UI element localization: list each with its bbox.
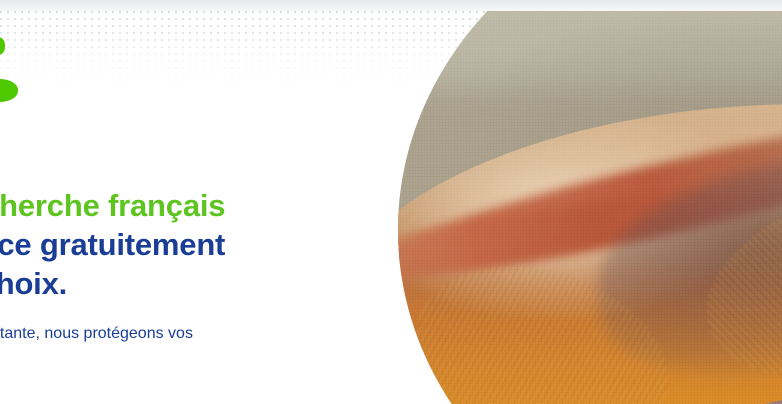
- page-title: ur de recherche français qui finance gra…: [0, 186, 430, 303]
- photo-background: [398, 0, 782, 404]
- tortoise-photo: [398, 0, 782, 404]
- headline-line-3: e votre choix.: [0, 264, 430, 303]
- headline-line-1: ur de recherche français: [0, 186, 430, 225]
- headline-line-2: qui finance gratuitement: [0, 225, 430, 264]
- hero-subheadline: rivée est importante, nous protégeons vo…: [0, 322, 455, 346]
- hero-page: ur de recherche français qui finance gra…: [0, 0, 782, 404]
- top-bar: [0, 0, 782, 11]
